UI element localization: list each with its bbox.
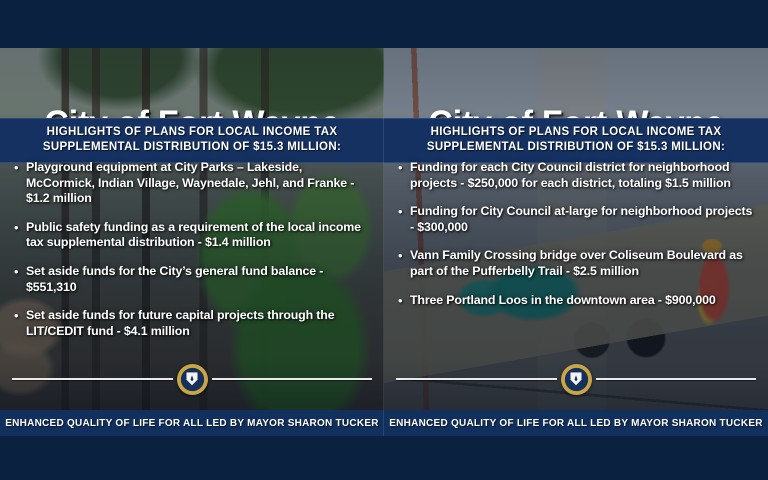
footer-tagline-bars: ENHANCED QUALITY OF LIFE FOR ALL LED BY …	[0, 410, 768, 436]
city-seal-icon	[177, 364, 208, 395]
right-graphic-card: City of Fort Wayne HIGHLIGHTS OF PLANS F…	[384, 48, 768, 410]
right-bullet-list: • Funding for each City Council district…	[398, 160, 758, 322]
list-item-text: Funding for City Council at-large for ne…	[410, 204, 758, 235]
right-card-content: City of Fort Wayne HIGHLIGHTS OF PLANS F…	[384, 48, 768, 410]
bullet-dot-icon: •	[398, 204, 410, 235]
right-headline-band: HIGHLIGHTS OF PLANS FOR LOCAL INCOME TAX…	[384, 118, 768, 163]
bullet-dot-icon: •	[398, 248, 410, 279]
list-item-text: Playground equipment at City Parks – Lak…	[26, 160, 374, 207]
slide-stage: City of Fort Wayne HIGHLIGHTS OF PLANS F…	[0, 0, 768, 480]
list-item: • Set aside funds for the City’s general…	[14, 264, 374, 295]
bullet-dot-icon: •	[14, 308, 26, 339]
left-headline-line-2: SUPPLEMENTAL DISTRIBUTION OF $15.3 MILLI…	[10, 140, 374, 155]
left-footer-bar: ENHANCED QUALITY OF LIFE FOR ALL LED BY …	[0, 410, 384, 436]
bottom-navy-bar	[0, 436, 768, 480]
list-item-text: Set aside funds for future capital proje…	[26, 308, 374, 339]
right-headline-line-2: SUPPLEMENTAL DISTRIBUTION OF $15.3 MILLI…	[394, 140, 758, 155]
top-navy-bar	[0, 0, 768, 48]
left-graphic-card: City of Fort Wayne HIGHLIGHTS OF PLANS F…	[0, 48, 384, 410]
list-item-text: Funding for each City Council district f…	[410, 160, 758, 191]
left-footer-text: ENHANCED QUALITY OF LIFE FOR ALL LED BY …	[5, 418, 378, 429]
bullet-dot-icon: •	[398, 293, 410, 309]
bullet-dot-icon: •	[14, 264, 26, 295]
right-headline-line-1: HIGHLIGHTS OF PLANS FOR LOCAL INCOME TAX	[394, 125, 758, 140]
left-seal-row	[12, 362, 372, 396]
list-item: • Three Portland Loos in the downtown ar…	[398, 293, 758, 309]
list-item: • Set aside funds for future capital pro…	[14, 308, 374, 339]
right-footer-text: ENHANCED QUALITY OF LIFE FOR ALL LED BY …	[389, 418, 762, 429]
divider-left	[396, 378, 557, 380]
left-headline-band: HIGHLIGHTS OF PLANS FOR LOCAL INCOME TAX…	[0, 118, 384, 163]
list-item: • Funding for City Council at-large for …	[398, 204, 758, 235]
right-footer-bar: ENHANCED QUALITY OF LIFE FOR ALL LED BY …	[384, 410, 768, 436]
bullet-dot-icon: •	[14, 220, 26, 251]
graphics-pair: City of Fort Wayne HIGHLIGHTS OF PLANS F…	[0, 48, 768, 410]
city-seal-icon	[561, 364, 592, 395]
list-item: • Public safety funding as a requirement…	[14, 220, 374, 251]
left-bullet-list: • Playground equipment at City Parks – L…	[14, 160, 374, 352]
right-seal-row	[396, 362, 756, 396]
list-item: • Playground equipment at City Parks – L…	[14, 160, 374, 207]
divider-left	[12, 378, 173, 380]
list-item-text: Public safety funding as a requirement o…	[26, 220, 374, 251]
list-item: • Funding for each City Council district…	[398, 160, 758, 191]
list-item-text: Set aside funds for the City’s general f…	[26, 264, 374, 295]
divider-right	[596, 378, 757, 380]
left-card-content: City of Fort Wayne HIGHLIGHTS OF PLANS F…	[0, 48, 384, 410]
list-item-text: Vann Family Crossing bridge over Coliseu…	[410, 248, 758, 279]
bullet-dot-icon: •	[14, 160, 26, 207]
list-item-text: Three Portland Loos in the downtown area…	[410, 293, 716, 309]
left-headline-line-1: HIGHLIGHTS OF PLANS FOR LOCAL INCOME TAX	[10, 125, 374, 140]
list-item: • Vann Family Crossing bridge over Colis…	[398, 248, 758, 279]
divider-right	[212, 378, 373, 380]
bullet-dot-icon: •	[398, 160, 410, 191]
